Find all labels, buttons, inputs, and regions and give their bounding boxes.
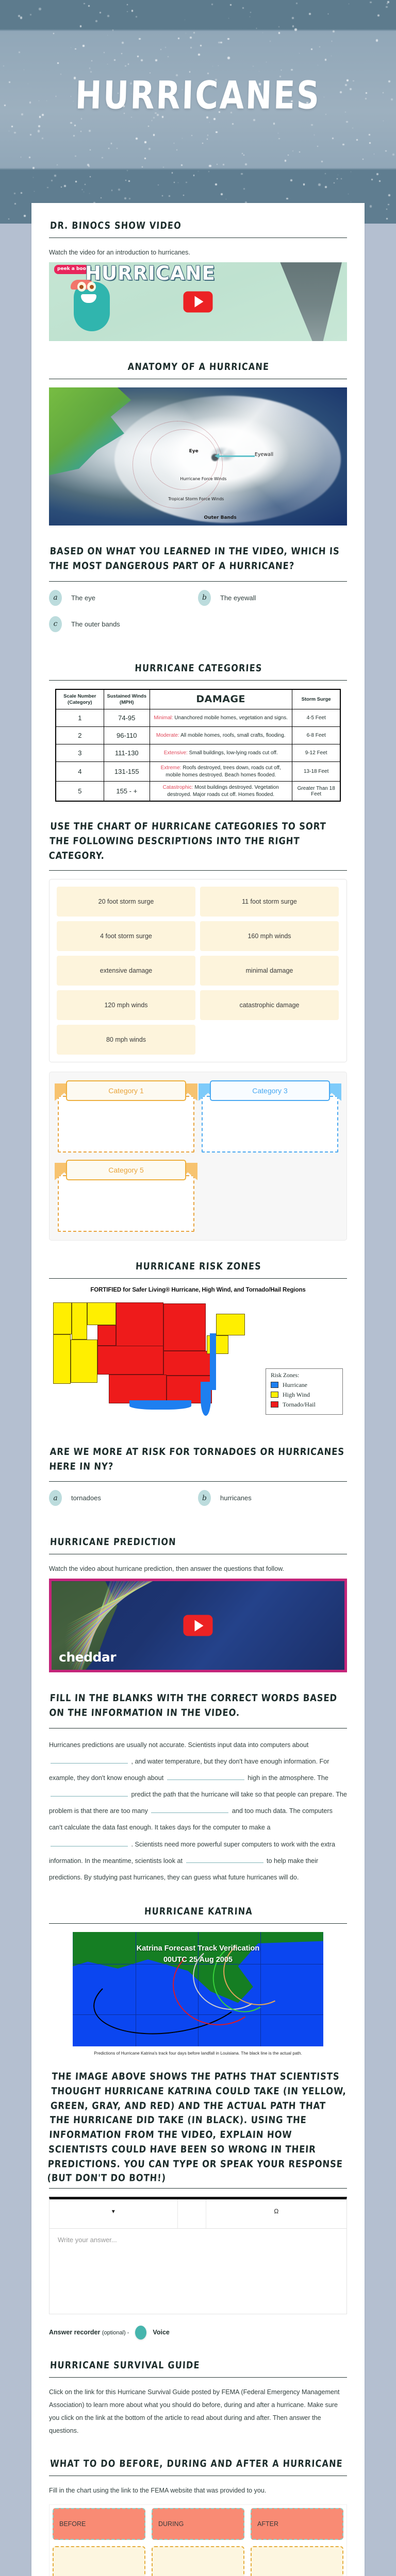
cell-winds: 155 - + xyxy=(104,782,150,802)
question-text: FILL IN THE BLANKS WITH THE CORRECT WORD… xyxy=(49,1691,348,1720)
drop-area[interactable] xyxy=(58,1096,194,1153)
special-character-button[interactable]: Ω xyxy=(206,2199,346,2228)
option-a[interactable]: a The eye xyxy=(49,590,198,606)
divider xyxy=(49,2188,347,2189)
editor-toolbar: ▾ Ω xyxy=(49,2199,346,2228)
legend-swatch-hurricane xyxy=(271,1382,278,1388)
cell-category: 5 xyxy=(56,782,104,802)
region-great-lakes xyxy=(163,1303,206,1351)
legend-label: High Wind xyxy=(283,1391,310,1399)
legend-title: Risk Zones: xyxy=(271,1372,338,1379)
tropical-storm-wind-ring xyxy=(133,421,223,509)
bda-column-header: BEFORE xyxy=(53,2508,145,2540)
katrina-title-line2: 00UTC 25 Aug 2005 xyxy=(73,1955,323,1966)
fib-blank-input[interactable] xyxy=(186,1855,263,1863)
sortable-tile[interactable]: 20 foot storm surge xyxy=(57,887,195,917)
cell-category: 2 xyxy=(56,727,104,744)
microphone-icon[interactable] xyxy=(135,2326,146,2340)
legend-item-tornado-hail: Tornado/Hail xyxy=(271,1401,338,1409)
recorder-label: Answer recorder (optional) - xyxy=(49,2329,129,2336)
section-heading: HURRICANE KATRINA xyxy=(50,1905,348,1917)
drop-zones-container: Category 1Category 3Category 5 xyxy=(49,1072,347,1241)
section-survival-guide: HURRICANE SURVIVAL GUIDE Click on the li… xyxy=(31,2360,365,2438)
table-row: 5155 - +Catastrophic: Most buildings des… xyxy=(56,782,341,802)
fib-blank-input[interactable] xyxy=(51,1789,128,1797)
section-heading: HURRICANE CATEGORIES xyxy=(50,662,348,673)
answer-options: a tornadoes b hurricanes xyxy=(49,1490,347,1516)
legend-label: Hurricane xyxy=(283,1381,307,1389)
cell-damage: Extensive: Small buildings, low-lying ro… xyxy=(150,744,292,762)
section-hurricane-prediction: HURRICANE PREDICTION Watch the video abo… xyxy=(31,1537,365,1672)
hurricane-categories-table: Scale Number (Category) Sustained Winds … xyxy=(55,689,341,802)
sortable-tile[interactable]: 160 mph winds xyxy=(200,921,339,951)
label-outer-bands: Outer Bands xyxy=(204,515,237,520)
zone-label: Category 1 xyxy=(66,1080,186,1101)
region-nevada-california xyxy=(53,1334,71,1384)
cell-damage: Extreme: Roofs destroyed, trees down, ro… xyxy=(150,762,292,782)
region-florida xyxy=(201,1382,211,1416)
zone-label: Category 5 xyxy=(66,1160,186,1180)
bda-column-header: DURING xyxy=(152,2508,244,2540)
sortable-tile[interactable]: 120 mph winds xyxy=(57,990,195,1020)
bda-answer-cell[interactable] xyxy=(148,2543,247,2576)
prediction-video-thumbnail[interactable]: cheddar xyxy=(49,1579,347,1672)
recorder-optional-text: (optional) - xyxy=(102,2330,129,2336)
sortable-tile[interactable]: catastrophic damage xyxy=(200,990,339,1020)
zone-label: Category 3 xyxy=(210,1080,330,1101)
hurricane-satellite-image: Eye Eyewall Hurricane Force Winds Tropic… xyxy=(49,387,347,526)
question-ny-risk: ARE WE MORE AT RISK FOR TORNADOES OR HUR… xyxy=(31,1447,365,1517)
recorder-label-text: Answer recorder xyxy=(49,2329,100,2336)
legend-item-hurricane: Hurricane xyxy=(271,1381,338,1389)
region-idaho xyxy=(72,1302,87,1340)
divider xyxy=(49,680,347,681)
question-text: THE IMAGE ABOVE SHOWS THE PATHS THAT SCI… xyxy=(47,2070,350,2186)
cell-category: 4 xyxy=(56,762,104,782)
risk-zone-map: Risk Zones: Hurricane High Wind Tornado/… xyxy=(49,1297,347,1426)
table-header-row: Scale Number (Category) Sustained Winds … xyxy=(56,689,341,709)
katrina-forecast-track-image: Katrina Forecast Track Verification 00UT… xyxy=(73,1932,323,2046)
divider xyxy=(49,581,347,582)
region-central-plains xyxy=(97,1346,163,1375)
play-icon[interactable] xyxy=(184,1615,213,1636)
label-hurricane-force-winds: Hurricane Force Winds xyxy=(180,477,226,481)
region-northeast xyxy=(216,1314,245,1335)
bda-answer-cell[interactable] xyxy=(49,2543,148,2576)
cell-winds: 131-155 xyxy=(104,762,150,782)
question-sort-categories: USE THE CHART OF HURRICANE CATEGORIES TO… xyxy=(31,822,365,1240)
cell-surge: 4-5 Feet xyxy=(292,709,340,727)
divider xyxy=(49,2476,347,2476)
section-hurricane-categories: HURRICANE CATEGORIES Scale Number (Categ… xyxy=(31,663,365,802)
option-bubble: a xyxy=(49,1490,62,1506)
question-text: BASED ON WHAT YOU LEARNED IN THE VIDEO, … xyxy=(49,545,348,573)
divider xyxy=(49,870,347,871)
region-dakotas-plains xyxy=(116,1302,163,1352)
sortable-tile[interactable]: 80 mph winds xyxy=(57,1025,195,1055)
legend-label: Tornado/Hail xyxy=(283,1401,316,1409)
label-tropical-storm-force-winds: Tropical Storm Force Winds xyxy=(168,497,224,501)
option-label: The eyewall xyxy=(220,594,256,602)
cell-damage: Moderate: All mobile homes, roofs, small… xyxy=(150,727,292,744)
cell-damage: Catastrophic: Most buildings destroyed. … xyxy=(150,782,292,802)
map-legend: Risk Zones: Hurricane High Wind Tornado/… xyxy=(266,1368,343,1415)
question-fill-in-blanks: FILL IN THE BLANKS WITH THE CORRECT WORD… xyxy=(31,1693,365,1885)
table-row: 296-110Moderate: All mobile homes, roofs… xyxy=(56,727,341,744)
drop-zone-category-1[interactable]: Category 1 xyxy=(58,1080,194,1153)
cell-category: 1 xyxy=(56,709,104,727)
cell-winds: 111-130 xyxy=(104,744,150,762)
sortable-tile[interactable]: extensive damage xyxy=(57,956,195,986)
eyewall-arrow xyxy=(219,455,255,457)
section-risk-zones: HURRICANE RISK ZONES FORTIFIED for Safer… xyxy=(31,1261,365,1426)
region-utah-arizona xyxy=(71,1340,97,1383)
answer-recorder: Answer recorder (optional) - Voice xyxy=(49,2326,347,2340)
fib-blank-input[interactable] xyxy=(151,1805,228,1813)
katrina-image-caption: Predictions of Hurricane Katrina's track… xyxy=(73,2050,323,2056)
peekaboo-badge: peek a boo xyxy=(54,265,89,274)
cell-surge: Greater Than 18 Feet xyxy=(292,782,340,802)
bda-header-cell: BEFORE xyxy=(49,2505,148,2543)
binocs-instruction: Watch the video for an introduction to h… xyxy=(49,246,347,259)
before-during-after-grid: BEFOREDURINGAFTER xyxy=(49,2504,347,2576)
binocs-video-thumbnail[interactable]: peek a boo HURRICANE xyxy=(49,262,347,341)
ribbon-banner: Category 5 xyxy=(63,1160,189,1183)
fib-text-segment: Hurricanes predictions are usually not a… xyxy=(49,1741,308,1749)
page-title: HURRICANES xyxy=(0,73,396,118)
option-bubble: b xyxy=(198,1490,211,1506)
cell-damage: Minimal: Unanchored mobile homes, vegeta… xyxy=(150,709,292,727)
question-katrina-essay: THE IMAGE ABOVE SHOWS THE PATHS THAT SCI… xyxy=(31,2077,365,2340)
ribbon-banner: Category 3 xyxy=(207,1080,333,1104)
sortable-tile[interactable]: 4 foot storm surge xyxy=(57,921,195,951)
hero-banner: HURRICANES xyxy=(0,0,396,224)
fill-in-blanks-paragraph: Hurricanes predictions are usually not a… xyxy=(49,1737,347,1886)
prediction-instruction: Watch the video about hurricane predicti… xyxy=(49,1563,347,1575)
divider xyxy=(49,2377,347,2378)
play-icon[interactable] xyxy=(184,291,213,312)
th-storm-surge: Storm Surge xyxy=(292,689,340,709)
usa-map-graphic xyxy=(52,1299,268,1418)
section-heading: HURRICANE SURVIVAL GUIDE xyxy=(50,2359,348,2370)
divider xyxy=(49,379,347,379)
drop-area[interactable] xyxy=(58,1175,194,1232)
option-label: tornadoes xyxy=(71,1494,101,1502)
table-row: 3111-130Extensive: Small buildings, low-… xyxy=(56,744,341,762)
cell-winds: 74-95 xyxy=(104,709,150,727)
cell-surge: 13-18 Feet xyxy=(292,762,340,782)
option-bubble: a xyxy=(49,590,62,606)
section-heading: WHAT TO DO BEFORE, DURING AND AFTER A HU… xyxy=(50,2458,348,2469)
divider xyxy=(49,1481,347,1482)
region-montana xyxy=(87,1302,116,1325)
answer-options: a The eye b The eyewall c The outer band… xyxy=(49,590,347,642)
th-damage: DAMAGE xyxy=(150,689,292,709)
table-row: 174-95Minimal: Unanchored mobile homes, … xyxy=(56,709,341,727)
tornado-graphic xyxy=(275,262,342,341)
fib-blank-input[interactable] xyxy=(51,1756,128,1764)
section-anatomy: ANATOMY OF A HURRICANE Eye Eyewall Hurri… xyxy=(31,362,365,526)
cell-surge: 9-12 Feet xyxy=(292,744,340,762)
section-heading: HURRICANE RISK ZONES xyxy=(50,1260,348,1272)
bda-header-cell: AFTER xyxy=(247,2505,346,2543)
region-pacific-northwest xyxy=(53,1302,72,1334)
survival-guide-text: Click on the link for this Hurricane Sur… xyxy=(49,2386,347,2438)
option-label: The eye xyxy=(71,594,95,602)
divider xyxy=(49,1923,347,1924)
toolbar-spacer xyxy=(178,2199,206,2228)
option-bubble: c xyxy=(49,616,62,632)
th-scale-number: Scale Number (Category) xyxy=(56,689,104,709)
label-eyewall: Eyewall xyxy=(255,452,273,457)
answer-textarea[interactable]: Write your answer... xyxy=(49,2229,346,2314)
question-text: ARE WE MORE AT RISK FOR TORNADOES OR HUR… xyxy=(49,1445,348,1473)
font-dropdown-button[interactable]: ▾ xyxy=(49,2199,178,2228)
region-midwest xyxy=(163,1351,213,1376)
video-title-text: HURRICANE xyxy=(85,262,216,284)
cell-category: 3 xyxy=(56,744,104,762)
recorder-voice-label: Voice xyxy=(153,2329,169,2336)
draggable-tiles-container: 20 foot storm surge11 foot storm surge4 … xyxy=(49,879,347,1062)
option-a[interactable]: a tornadoes xyxy=(49,1490,198,1506)
drop-area[interactable] xyxy=(202,1096,338,1153)
divider xyxy=(49,1278,347,1279)
katrina-image-title: Katrina Forecast Track Verification 00UT… xyxy=(73,1943,323,1966)
divider xyxy=(49,1554,347,1554)
cell-surge: 6-8 Feet xyxy=(292,727,340,744)
label-eye: Eye xyxy=(189,449,199,454)
region-gulf-coast xyxy=(129,1400,191,1410)
sortable-tile[interactable]: minimal damage xyxy=(200,956,339,986)
worksheet-sheet: DR. BINOCS SHOW VIDEO Watch the video fo… xyxy=(31,203,365,2576)
section-hurricane-katrina: HURRICANE KATRINA Katrina Forecast Track… xyxy=(31,1906,365,2056)
cell-winds: 96-110 xyxy=(104,727,150,744)
drop-zone-category-3[interactable]: Category 3 xyxy=(202,1080,338,1153)
section-heading: ANATOMY OF A HURRICANE xyxy=(50,361,348,372)
legend-swatch-high-wind xyxy=(271,1392,278,1398)
cheddar-logo: cheddar xyxy=(59,1650,116,1665)
ribbon-banner: Category 1 xyxy=(63,1080,189,1104)
sortable-tile[interactable]: 11 foot storm surge xyxy=(200,887,339,917)
section-binocs-video: DR. BINOCS SHOW VIDEO Watch the video fo… xyxy=(31,221,365,341)
option-label: hurricanes xyxy=(220,1494,252,1502)
bda-answer-cell[interactable] xyxy=(247,2543,346,2576)
question-most-dangerous-part: BASED ON WHAT YOU LEARNED IN THE VIDEO, … xyxy=(31,546,365,642)
bda-instruction: Fill in the chart using the link to the … xyxy=(49,2484,347,2497)
option-b[interactable]: b hurricanes xyxy=(198,1490,347,1506)
bda-drop-slot[interactable] xyxy=(152,2546,244,2576)
katrina-title-line1: Katrina Forecast Track Verification xyxy=(73,1943,323,1955)
bda-header-cell: DURING xyxy=(148,2505,247,2543)
drop-zone-category-5[interactable]: Category 5 xyxy=(58,1160,194,1232)
section-heading: HURRICANE PREDICTION xyxy=(50,1536,348,1547)
option-c[interactable]: c The outer bands xyxy=(49,616,198,632)
section-before-during-after: WHAT TO DO BEFORE, DURING AND AFTER A HU… xyxy=(31,2459,365,2576)
rich-text-editor: ▾ Ω Write your answer... xyxy=(49,2197,347,2314)
region-atlantic-coast xyxy=(210,1333,216,1390)
question-text: USE THE CHART OF HURRICANE CATEGORIES TO… xyxy=(48,820,348,863)
legend-item-high-wind: High Wind xyxy=(271,1391,338,1399)
table-row: 4131-155Extreme: Roofs destroyed, trees … xyxy=(56,762,341,782)
map-caption: FORTIFIED for Safer Living® Hurricane, H… xyxy=(49,1287,347,1293)
region-wyoming xyxy=(97,1325,116,1346)
fib-blank-input[interactable] xyxy=(51,1839,128,1846)
option-bubble: b xyxy=(198,590,211,606)
bda-drop-slot[interactable] xyxy=(53,2546,145,2576)
th-sustained-winds: Sustained Winds (MPH) xyxy=(104,689,150,709)
fib-blank-input[interactable] xyxy=(167,1772,244,1780)
option-label: The outer bands xyxy=(71,620,120,628)
region-south-central xyxy=(109,1375,167,1403)
bda-column-header: AFTER xyxy=(251,2508,343,2540)
bda-drop-slot[interactable] xyxy=(251,2546,343,2576)
section-heading: DR. BINOCS SHOW VIDEO xyxy=(50,219,348,231)
divider xyxy=(49,1728,347,1728)
option-b[interactable]: b The eyewall xyxy=(198,590,347,606)
divider xyxy=(49,238,347,238)
legend-swatch-tornado-hail xyxy=(271,1401,278,1408)
fib-text-segment: high in the atmosphere. The xyxy=(247,1774,328,1782)
